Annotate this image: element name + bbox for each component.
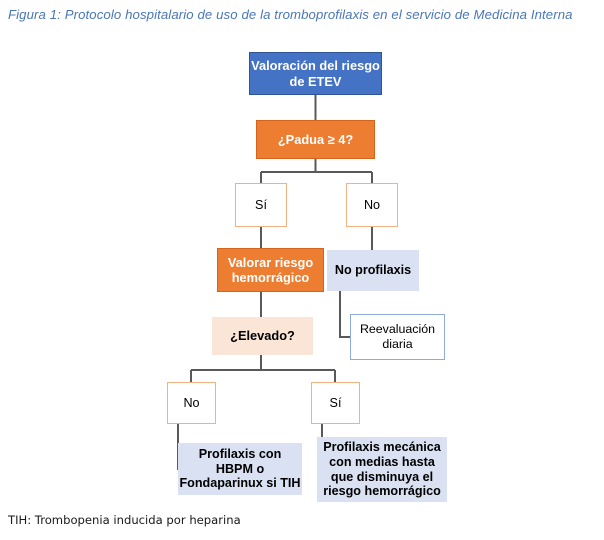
node-padua-no[interactable]: No [346, 183, 398, 227]
node-padua-si[interactable]: Sí [235, 183, 287, 227]
flowchart-diagram: Valoración del riesgo de ETEV ¿Padua ≥ 4… [0, 0, 604, 540]
node-valorar-riesgo-hemorragico[interactable]: Valorar riesgo hemorrágico [217, 248, 324, 292]
figure-footnote: TIH: Trombopenia inducida por heparina [8, 513, 241, 527]
edge-padua-split [261, 159, 372, 183]
node-elevado-no[interactable]: No [167, 382, 216, 424]
node-profilaxis-hbpm-fondaparinux[interactable]: Profilaxis con HBPM o Fondaparinux si TI… [178, 443, 302, 495]
node-reevaluacion-diaria[interactable]: Reevaluación diaria [350, 314, 445, 360]
node-valoracion-riesgo-etev[interactable]: Valoración del riesgo de ETEV [249, 52, 382, 95]
edge-elevado-split [191, 355, 335, 382]
node-elevado-si[interactable]: Sí [311, 382, 360, 424]
node-padua-decision[interactable]: ¿Padua ≥ 4? [256, 120, 375, 159]
node-no-profilaxis[interactable]: No profilaxis [327, 250, 419, 291]
edge-noprofilaxis-reevaluacion [340, 291, 350, 337]
node-profilaxis-mecanica[interactable]: Profilaxis mecánica con medias hasta que… [317, 437, 447, 502]
node-elevado-decision[interactable]: ¿Elevado? [212, 317, 313, 355]
